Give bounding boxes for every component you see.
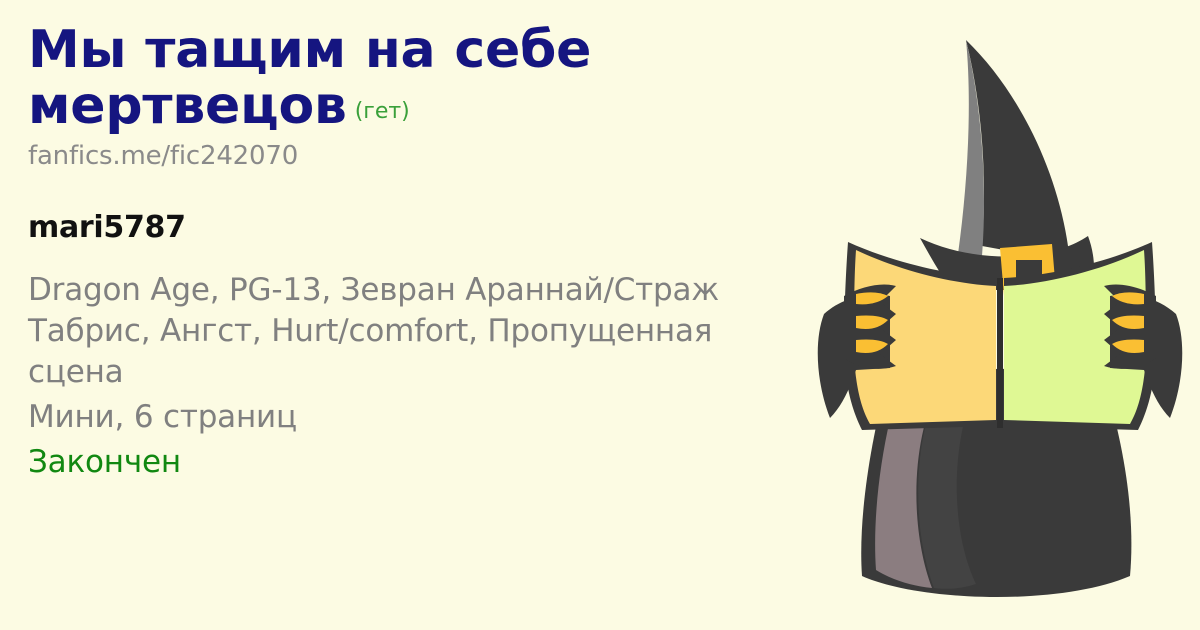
fic-meta-block: Dragon Age, PG-13, Зевран Араннай/Страж … (28, 270, 798, 483)
fic-url: fanfics.me/fic242070 (28, 142, 798, 171)
page-title: Мы тащим на себе мертвецов(гет) (28, 22, 798, 134)
fic-size: Мини, 6 страниц (28, 397, 798, 438)
page-title-text: Мы тащим на себе мертвецов (28, 20, 591, 136)
book-spine (997, 278, 1003, 428)
fanfic-preview-card: Мы тащим на себе мертвецов(гет) fanfics.… (0, 0, 1200, 630)
fic-category-badge: (гет) (347, 99, 410, 124)
text-column: Мы тащим на себе мертвецов(гет) fanfics.… (28, 22, 798, 482)
witch-reading-book-illustration (800, 10, 1200, 610)
witch-hat-group (920, 40, 1094, 296)
fic-tags-description: Dragon Age, PG-13, Зевран Араннай/Страж … (28, 270, 798, 393)
author-name: mari5787 (28, 211, 798, 244)
fic-status-badge: Закончен (28, 442, 798, 483)
